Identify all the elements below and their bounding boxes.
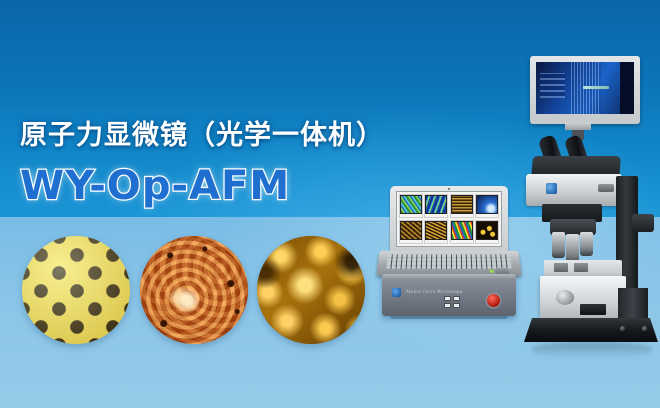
objective-lens xyxy=(552,232,565,258)
list-item xyxy=(475,220,499,244)
base-screw-icon xyxy=(620,326,625,331)
base-reflection xyxy=(532,342,652,358)
thumbnail-caption xyxy=(425,214,447,218)
thumbnail-caption xyxy=(425,240,447,244)
scanner-adjust-dial[interactable] xyxy=(556,290,574,305)
stage-clip xyxy=(554,263,568,272)
afm-scanner-head xyxy=(540,276,626,320)
list-item xyxy=(399,194,423,218)
terrace-pits xyxy=(140,236,248,344)
granular-shadow xyxy=(257,236,365,344)
webcam-icon xyxy=(448,188,450,190)
monitor-stand xyxy=(565,122,591,130)
laptop-keyboard xyxy=(386,254,511,268)
laptop-screen xyxy=(396,191,502,247)
list-item xyxy=(475,194,499,218)
thumbnail-caption xyxy=(400,240,422,244)
afm-sample-granular xyxy=(257,236,365,344)
port-icon xyxy=(444,296,451,301)
controller-shadow xyxy=(390,316,508,319)
list-item xyxy=(399,220,423,244)
focus-knob[interactable] xyxy=(598,184,614,192)
microscope-body xyxy=(526,174,622,206)
scanner-nameplate xyxy=(580,304,606,315)
column-arm xyxy=(632,214,654,232)
controller-box: Atomic Force Microscope xyxy=(382,274,516,316)
page-title: 原子力显微镜（光学一体机） xyxy=(20,122,384,149)
objective-lens xyxy=(580,232,593,256)
stage-clip xyxy=(574,263,588,272)
status-led-icon xyxy=(489,270,493,273)
monitor-scan-bars xyxy=(540,73,565,98)
afm-sample-dot-array xyxy=(22,236,130,344)
product-banner: 原子力显微镜（光学一体机） WY-Op-AFM xyxy=(0,0,660,408)
list-item xyxy=(450,220,474,244)
brand-logo-icon xyxy=(392,288,401,297)
list-item xyxy=(424,194,448,218)
microscope-base xyxy=(524,318,658,342)
column-pedestal xyxy=(618,288,648,320)
list-item xyxy=(450,194,474,218)
microscope-monitor xyxy=(530,56,640,124)
monitor-dark-edge xyxy=(620,62,634,114)
port-icon xyxy=(453,296,460,301)
monitor-screen xyxy=(536,62,634,114)
list-item xyxy=(424,220,448,244)
controller-label: Atomic Force Microscope xyxy=(406,289,463,294)
brand-logo-icon xyxy=(546,183,557,194)
afm-sample-terrace xyxy=(140,236,248,344)
thumbnail-caption xyxy=(451,240,473,244)
port-icon xyxy=(453,303,460,308)
base-screw-icon xyxy=(642,326,647,331)
controller-top-panel xyxy=(382,274,516,279)
thumbnail-caption xyxy=(476,214,498,218)
controller-ports xyxy=(444,296,460,308)
thumbnail-caption xyxy=(476,240,498,244)
port-icon xyxy=(444,303,451,308)
laptop-lid xyxy=(390,186,508,254)
thumbnail-caption xyxy=(451,214,473,218)
dot-array-shading xyxy=(22,236,130,344)
optical-afm-microscope xyxy=(498,56,658,324)
product-model: WY-Op-AFM xyxy=(20,166,290,206)
thumbnail-caption xyxy=(400,214,422,218)
